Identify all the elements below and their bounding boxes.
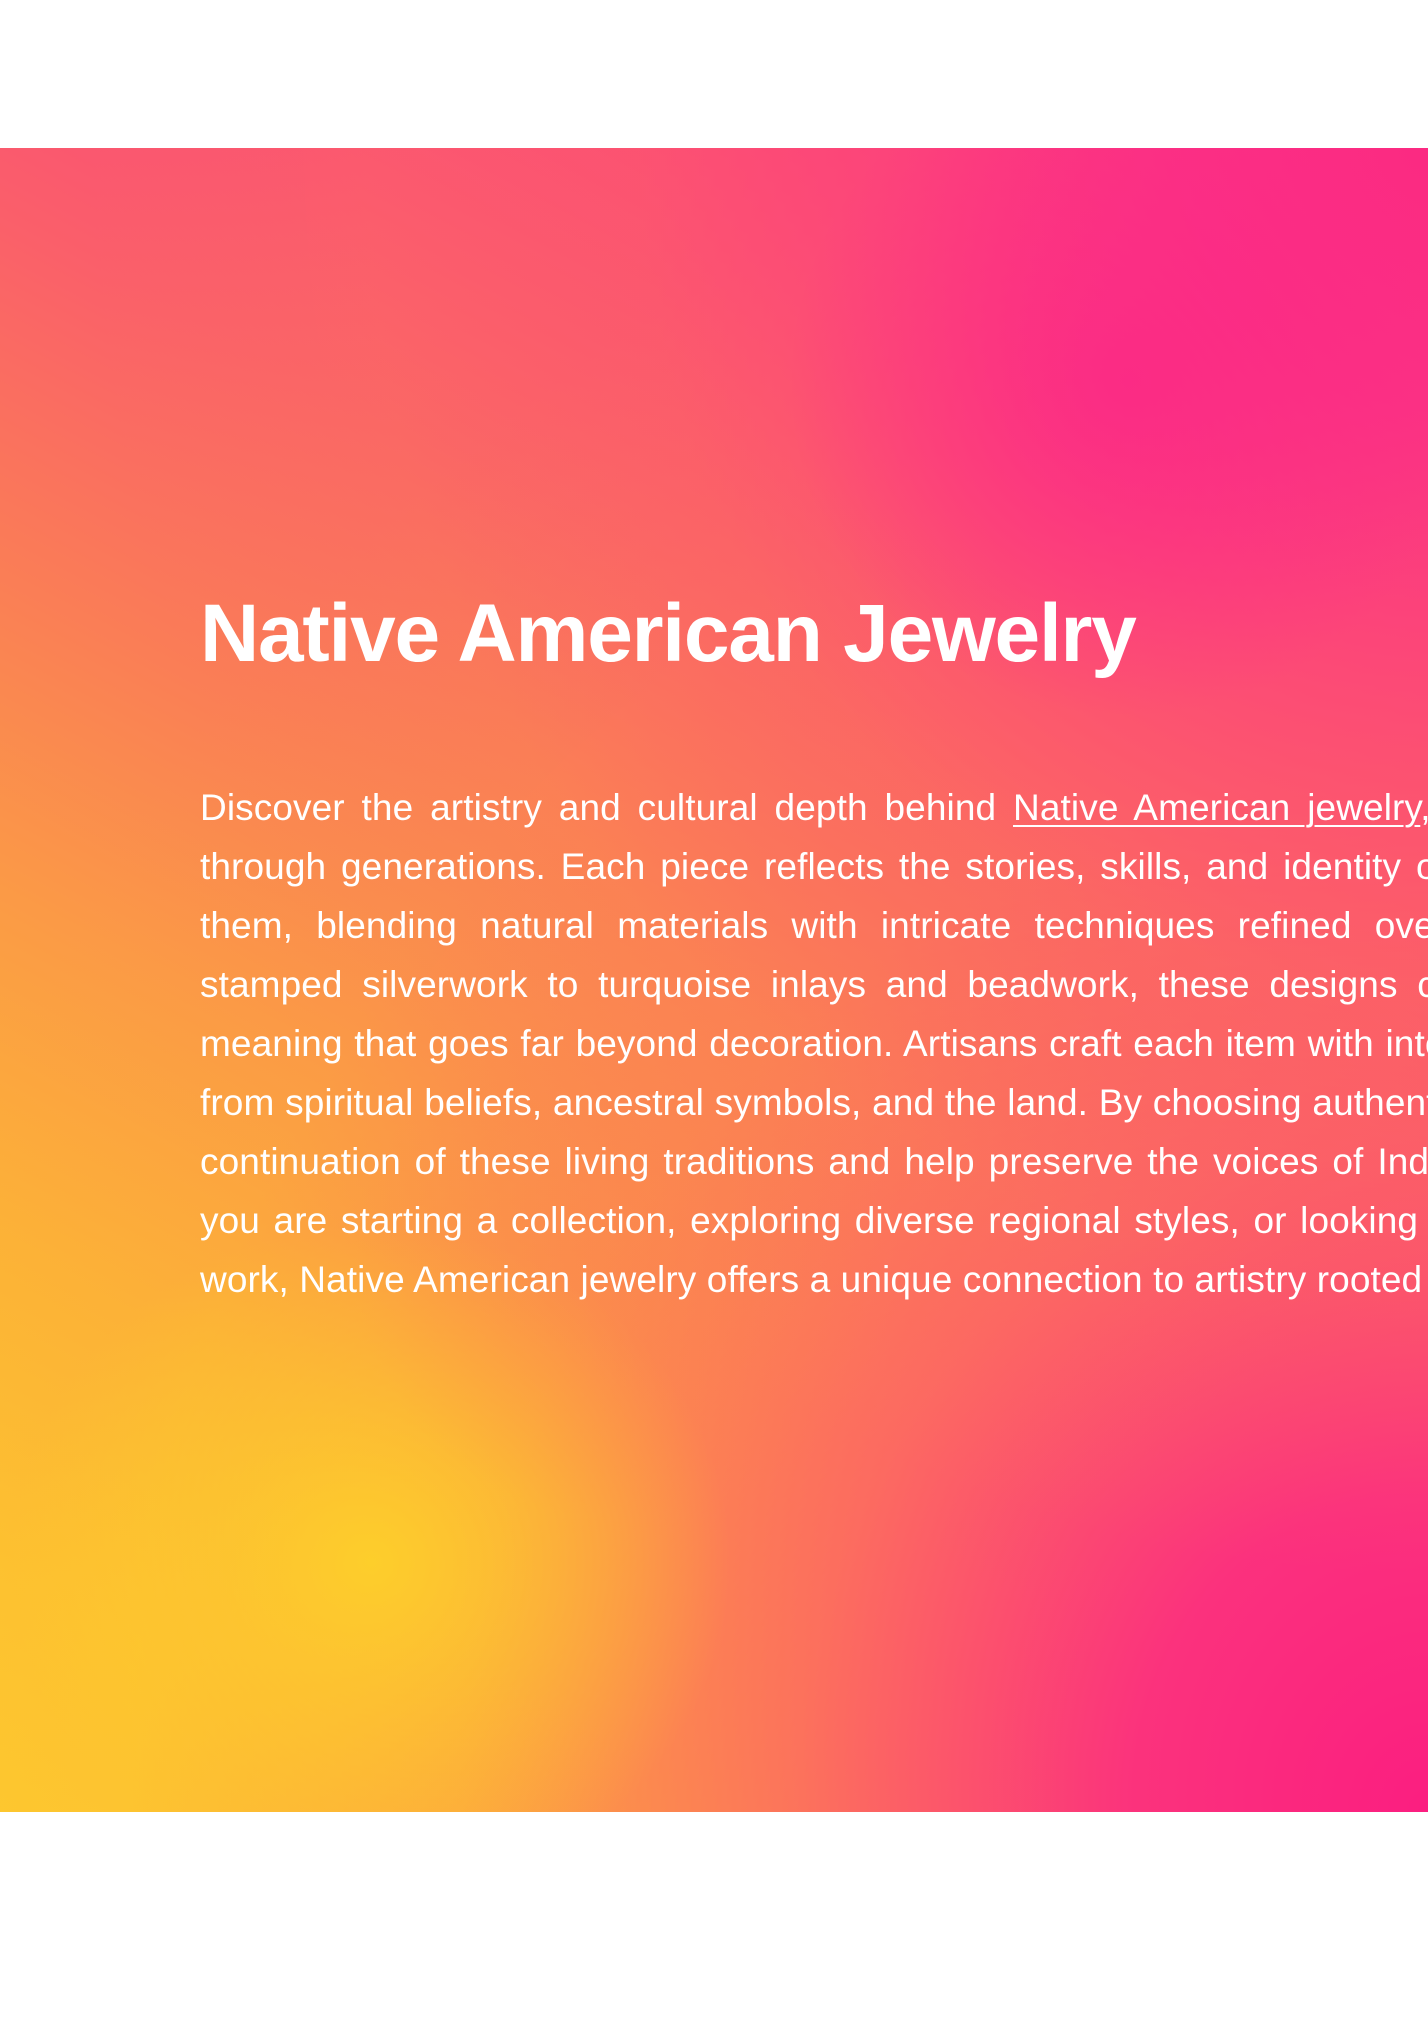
hero-description: Discover the artistry and cultural depth… (200, 778, 1428, 1309)
page-title: Native American Jewelry (200, 590, 1428, 679)
description-lead: Discover the artistry and cultural depth… (200, 787, 1013, 828)
page-root: Native American Jewelry Discover the art… (0, 0, 1428, 2018)
hero-gradient-banner: Native American Jewelry Discover the art… (0, 148, 1428, 1812)
gradient-bloom-magenta (657, 148, 1428, 847)
native-american-jewelry-link[interactable]: Native American jewelry (1013, 787, 1420, 828)
description-rest: , a tradition passed down through genera… (200, 787, 1428, 1300)
